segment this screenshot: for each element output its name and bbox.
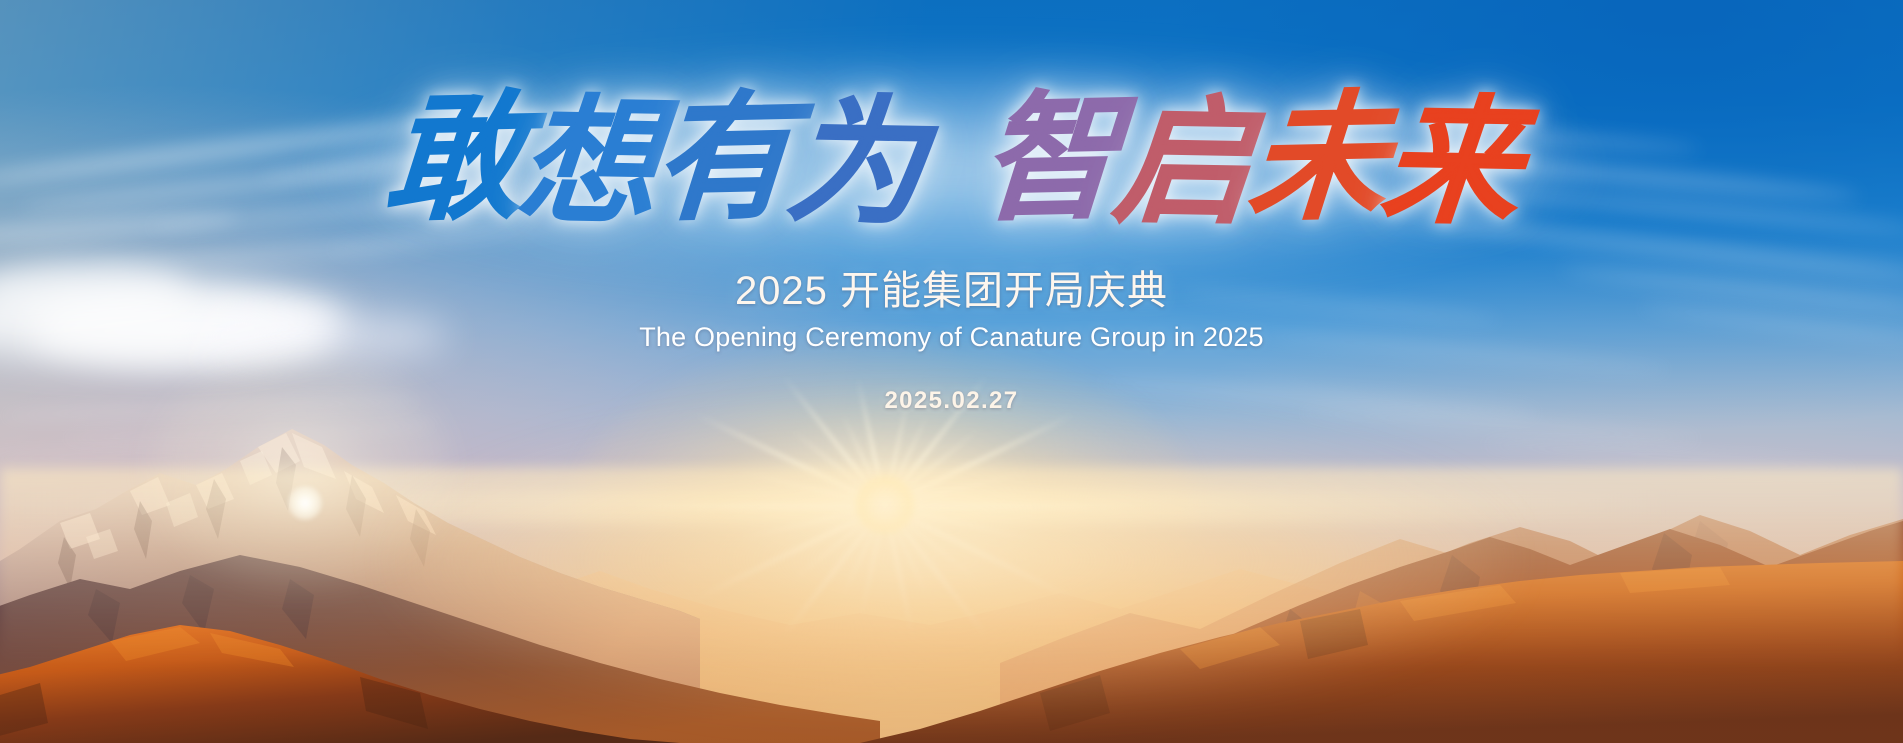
lens-flare-spot (288, 486, 322, 520)
event-date: 2025.02.27 (0, 387, 1903, 415)
event-banner: 敢 想 有 为 智 启 未 来 2025 开能集团开局庆典 The Openin… (0, 0, 1903, 743)
subtitle-chinese: 2025 开能集团开局庆典 (0, 258, 1903, 316)
subtitle-english: The Opening Ceremony of Canature Group i… (0, 322, 1903, 353)
headline-glow (322, 60, 1582, 280)
banner-text-block: 2025 开能集团开局庆典 The Opening Ceremony of Ca… (0, 258, 1903, 415)
